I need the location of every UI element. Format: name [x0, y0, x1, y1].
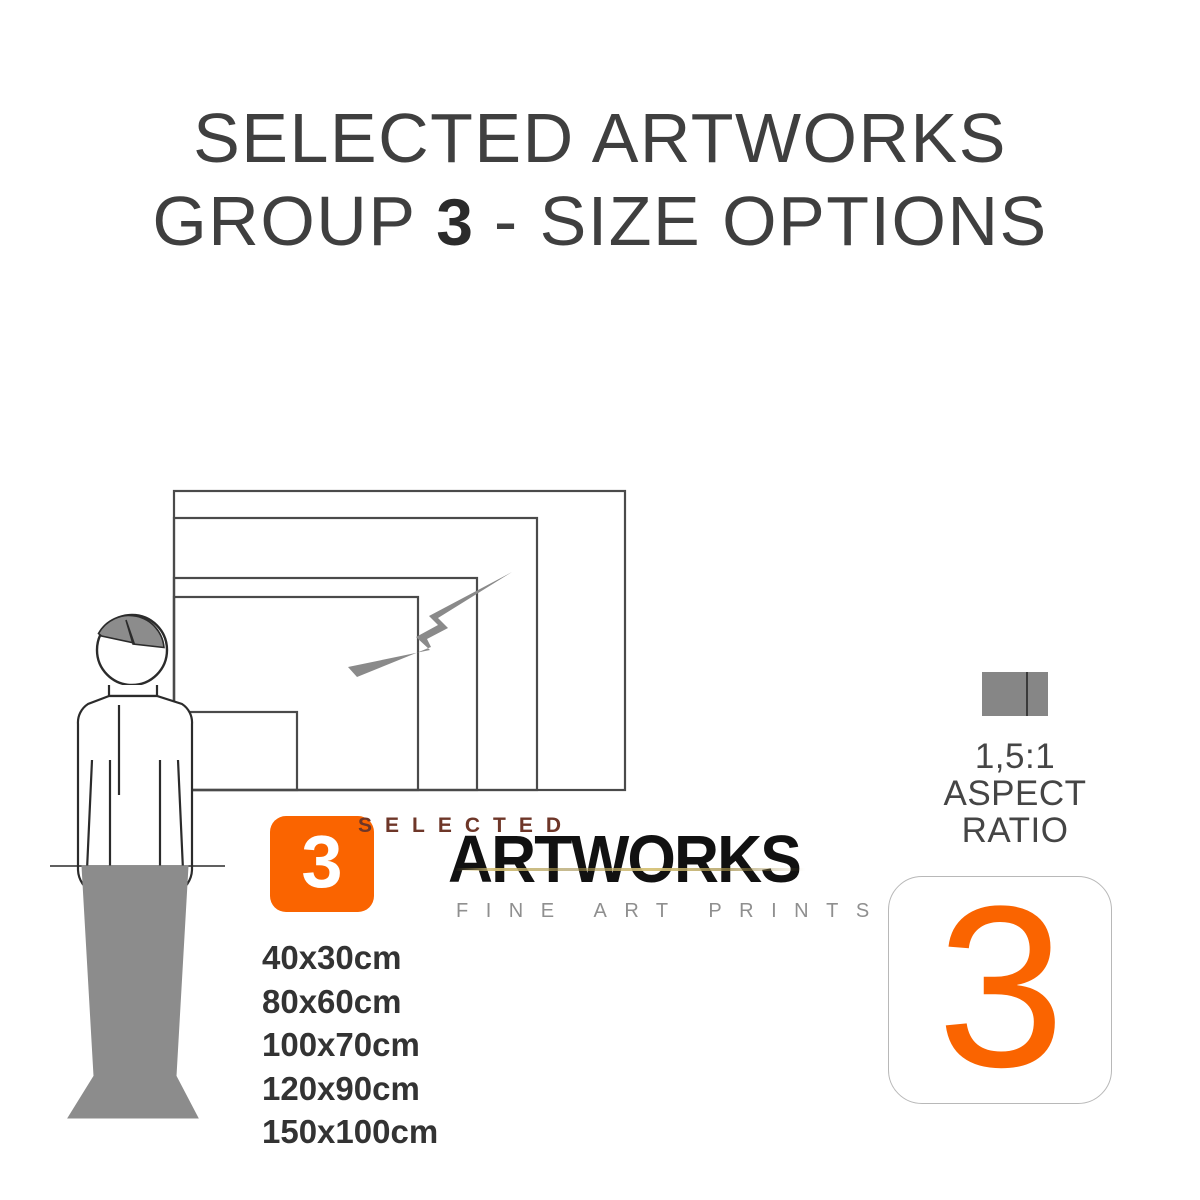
- size-options-list: 40x30cm 80x60cm 100x70cm 120x90cm 150x10…: [262, 936, 682, 1154]
- logo-tagline: FINE ART PRINTS: [456, 900, 887, 923]
- size-option-item: 40x30cm: [262, 936, 682, 980]
- size-option-item: 80x60cm: [262, 980, 682, 1024]
- aspect-ratio-block: 1,5:1 ASPECT RATIO: [900, 672, 1130, 849]
- page-title: SELECTED ARTWORKS GROUP 3 - SIZE OPTIONS: [0, 104, 1200, 255]
- aspect-ratio-label-1: ASPECT: [900, 775, 1130, 812]
- title-group-prefix: GROUP: [152, 182, 436, 260]
- figure-neck: [109, 685, 157, 696]
- brand-logo: 3 SELECTED ARTWORKS FINE ART PRINTS: [270, 812, 830, 918]
- figure-torso: [78, 696, 192, 893]
- human-scale-figure: [30, 600, 280, 1160]
- growth-arrow-icon: [348, 572, 512, 677]
- aspect-ratio-icon-divider: [1026, 672, 1028, 716]
- group-number-tile-value: 3: [889, 873, 1113, 1101]
- group-number-tile: 3: [888, 876, 1112, 1104]
- aspect-ratio-label-2: RATIO: [900, 812, 1130, 849]
- size-option-item: 100x70cm: [262, 1023, 682, 1067]
- aspect-ratio-value: 1,5:1: [900, 738, 1130, 775]
- logo-distress-scratch: [455, 868, 805, 871]
- aspect-ratio-text: 1,5:1 ASPECT RATIO: [900, 738, 1130, 849]
- title-line-1: SELECTED ARTWORKS: [0, 104, 1200, 173]
- title-group-suffix: - SIZE OPTIONS: [473, 182, 1048, 260]
- logo-word-artworks: ARTWORKS: [448, 826, 800, 893]
- title-line-2: GROUP 3 - SIZE OPTIONS: [0, 187, 1200, 256]
- size-option-item: 120x90cm: [262, 1067, 682, 1111]
- figure-lower-body: [68, 866, 198, 1118]
- size-option-item: 150x100cm: [262, 1110, 682, 1154]
- aspect-ratio-icon: [982, 672, 1048, 716]
- title-group-number: 3: [436, 185, 473, 259]
